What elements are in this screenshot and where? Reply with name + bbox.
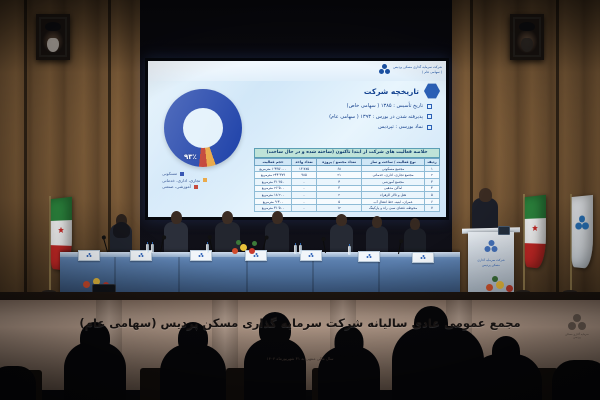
- table-row: ۶عمران، ابنیه، خط انتقال آب۵-۹٬۴۰۰ مترمر…: [255, 198, 440, 205]
- table-cell: ۹٬۴۰۰ مترمربع: [255, 198, 292, 205]
- portrait-beard: [521, 38, 532, 52]
- table-cell: ۳: [424, 179, 439, 186]
- framed-portrait-left: [36, 14, 70, 60]
- nameplate: [300, 250, 322, 261]
- table-column-header: تعداد واحد: [292, 158, 317, 165]
- wood-seam: [24, 0, 27, 330]
- audience-silhouette: [552, 360, 600, 400]
- table-cell: محوطه، فضای سبز، راه و پارکینگ: [362, 205, 425, 212]
- bullet-item: نماد بورسی : ثپردیس: [329, 124, 432, 130]
- legend-item: تجاری، اداری، خدماتی: [162, 178, 207, 183]
- banner-subline: سال مالی منتهی به ۳۱ شهریورماه ۱۴۰۴: [0, 356, 600, 361]
- audience-silhouette: [244, 338, 306, 400]
- trefoil-logo-icon: [367, 254, 372, 259]
- audience-head: [335, 326, 364, 357]
- legend-swatch: [203, 178, 207, 182]
- donut-center-label: ۹۳٪: [184, 153, 197, 161]
- donut-ring: [164, 89, 242, 167]
- trefoil-logo-icon: [575, 216, 589, 231]
- audience-silhouette: [64, 342, 126, 400]
- legend-item: مسکونی: [162, 171, 184, 176]
- iran-emblem-icon: [532, 225, 539, 232]
- slide-bullet-list: تاریخ تأسیس : ۱۳۸۵ ( سهامی خاص) پذیرفته …: [329, 103, 432, 130]
- table-cell: مجتمع مسکونی: [362, 165, 425, 172]
- bullet-text: پذیرفته شدن در بورس : ۱۳۹۳ ( سهامی عام): [329, 114, 423, 120]
- trefoil-logo-icon: [309, 253, 314, 258]
- panelist-head: [171, 211, 182, 224]
- audience-silhouette: [0, 366, 36, 400]
- trefoil-logo-icon: [485, 240, 498, 254]
- table-cell: ۷: [424, 205, 439, 212]
- framed-portrait-right: [510, 14, 544, 60]
- company-logo: شرکت سرمایه گذاری مسکن پردیس ( سهامی عام…: [379, 64, 442, 76]
- panelist-head: [336, 214, 347, 226]
- table-header-row: ردیفنوع فعالیت / ساخت و سازتعداد مجتمع /…: [255, 158, 440, 165]
- banner-logo-caption: سرمایه گذاری مسکن پردیس: [562, 333, 592, 339]
- table-cell: ۴۱٬۵۰۰ مترمربع: [255, 205, 292, 212]
- audience-silhouette: [318, 346, 380, 400]
- table-cell: ۶: [424, 198, 439, 205]
- donut-chart: ۹۳٪ مسکونی تجاری، اداری، خدماتی آموزشی، …: [156, 89, 252, 181]
- table-cell: ۶۸: [317, 165, 362, 172]
- water-bottle: [348, 246, 351, 255]
- table-cell: ۱۲: [317, 205, 362, 212]
- table-cell: ۱: [424, 165, 439, 172]
- table-cell: هتل و تالار الزهراء: [362, 192, 425, 199]
- slide-title: تاریخچه شرکت: [364, 87, 419, 96]
- banner-logo: سرمایه گذاری مسکن پردیس: [568, 314, 586, 342]
- table-cell: مجتمع تجاری، اداری، خدماتی: [362, 172, 425, 179]
- slide-title-row: تاریخچه شرکت: [364, 83, 440, 99]
- panelist-body: [265, 222, 289, 256]
- slide-header-bar: شرکت سرمایه گذاری مسکن پردیس ( سهامی عام…: [148, 61, 446, 81]
- activity-summary-table: خلاصه فعالیت های شرکت از ابتدا تاکنون (س…: [254, 148, 440, 212]
- table-cell: -: [292, 179, 317, 186]
- portrait-turban: [45, 22, 61, 32]
- bullet-text: نماد بورسی : ثپردیس: [378, 124, 423, 130]
- table-cell: ۹۸۵: [292, 172, 317, 179]
- hexagon-badge-icon: [424, 83, 440, 99]
- flower-arrangement: [228, 238, 262, 256]
- table-cell: ۲۱: [317, 172, 362, 179]
- bullet-text: تاریخ تأسیس : ۱۳۸۵ ( سهامی خاص): [347, 103, 423, 109]
- podium-laptop: [498, 226, 510, 235]
- water-bottle: [146, 244, 149, 253]
- table-cell: ۳۱٬۶۵۰ مترمربع: [255, 179, 292, 186]
- table-row: ۱مجتمع مسکونی۶۸۱۳٬۸۷۵۱٬۴۳۵٬۰۰۰ مترمربع: [255, 165, 440, 172]
- table-row: ۲مجتمع تجاری، اداری، خدماتی۲۱۹۸۵۲۴۴٬۳۷۹ …: [255, 172, 440, 179]
- banner-headline: مجمع عمومی عادی سالیانه شرکت سرمایه گذار…: [0, 316, 600, 330]
- trefoil-logo-icon: [139, 253, 144, 258]
- table-column-header: حجم فعالیت: [255, 158, 292, 165]
- wood-seam: [556, 0, 559, 330]
- table-column-header: ردیف: [424, 158, 439, 165]
- table-cell: ۵: [317, 198, 362, 205]
- legend-swatch: [194, 185, 198, 189]
- table-cell: مجتمع آموزشی: [362, 179, 425, 186]
- table-cell: ۱٬۴۳۵٬۰۰۰ مترمربع: [255, 165, 292, 172]
- legend-item: آموزشی، صنعتی: [162, 184, 198, 189]
- panelist-head: [222, 211, 233, 224]
- table-cell: اماکن مذهبی: [362, 185, 425, 192]
- bullet-square-icon: [427, 125, 432, 130]
- bullet-square-icon: [427, 114, 432, 119]
- trefoil-logo-icon: [379, 64, 390, 76]
- bullet-square-icon: [427, 104, 432, 109]
- nameplate: [412, 252, 434, 263]
- speaker-head: [479, 188, 492, 202]
- table-column-header: تعداد مجتمع / پروژه: [317, 158, 362, 165]
- table-cell: -: [292, 185, 317, 192]
- conference-hall-photo: شرکت سرمایه گذاری مسکن پردیس ( سهامی عام…: [0, 0, 600, 400]
- table-cell: -: [292, 205, 317, 212]
- legend-label: آموزشی، صنعتی: [162, 184, 191, 189]
- table-cell: ۳: [317, 185, 362, 192]
- panelist-body: [164, 222, 188, 256]
- water-bottle: [151, 244, 154, 253]
- table-cell: ۲۴۴٬۳۷۹ مترمربع: [255, 172, 292, 179]
- company-logo-text: شرکت سرمایه گذاری مسکن پردیس ( سهامی عام…: [393, 65, 442, 75]
- donut-legend: مسکونی تجاری، اداری، خدماتی آموزشی، صنعت…: [162, 171, 250, 189]
- table-cell: -: [292, 198, 317, 205]
- table-cell: ۱۳٬۸۷۵: [292, 165, 317, 172]
- bullet-item: پذیرفته شدن در بورس : ۱۳۹۳ ( سهامی عام): [329, 114, 432, 120]
- legend-label: تجاری، اداری، خدماتی: [162, 178, 200, 183]
- nameplate: [358, 251, 380, 262]
- panelist-head: [272, 211, 283, 224]
- panelist-head: [372, 216, 382, 228]
- flag-company: [572, 195, 593, 269]
- panelist-hijab: [113, 222, 130, 238]
- slide-table: ردیفنوع فعالیت / ساخت و سازتعداد مجتمع /…: [254, 158, 440, 212]
- podium-caption: شرکت سرمایه گذاری مسکن پردیس: [468, 258, 514, 268]
- nameplate: [78, 250, 100, 261]
- table-cell: ۴: [424, 185, 439, 192]
- flower-arrangement: [480, 274, 520, 294]
- trefoil-logo-icon: [421, 255, 426, 260]
- water-bottle: [206, 244, 209, 253]
- water-bottle: [299, 245, 302, 254]
- table-row: ۳مجتمع آموزشی۴-۳۱٬۶۵۰ مترمربع: [255, 179, 440, 186]
- portrait-beard: [47, 38, 58, 52]
- trefoil-logo-icon: [87, 253, 92, 258]
- table-cell: عمران، ابنیه، خط انتقال آب: [362, 198, 425, 205]
- flag-iran-right: [525, 195, 546, 270]
- table-cell: ۲: [424, 172, 439, 179]
- donut-hole: [183, 108, 223, 148]
- presentation-slide: شرکت سرمایه گذاری مسکن پردیس ( سهامی عام…: [148, 61, 446, 217]
- table-row: ۵هتل و تالار الزهراء۲-۱۸٬۲۰۰ مترمربع: [255, 192, 440, 199]
- legend-swatch: [180, 172, 184, 176]
- table-cell: -: [292, 192, 317, 199]
- iran-emblem-icon: [58, 227, 65, 234]
- table-cell: ۱۸٬۲۰۰ مترمربع: [255, 192, 292, 199]
- table-cell: ۵: [424, 192, 439, 199]
- portrait-turban: [519, 22, 535, 32]
- table-column-header: نوع فعالیت / ساخت و ساز: [362, 158, 425, 165]
- water-bottle: [294, 245, 297, 254]
- table-cell: ۲۶٬۵۰۰ مترمربع: [255, 185, 292, 192]
- table-caption: خلاصه فعالیت های شرکت از ابتدا تاکنون (س…: [254, 148, 440, 158]
- audience-silhouette: [160, 344, 226, 400]
- audience-head: [492, 336, 520, 366]
- table-cell: ۲: [317, 192, 362, 199]
- table-row: ۷محوطه، فضای سبز، راه و پارکینگ۱۲-۴۱٬۵۰۰…: [255, 205, 440, 212]
- bullet-item: تاریخ تأسیس : ۱۳۸۵ ( سهامی خاص): [329, 103, 432, 109]
- table-row: ۴اماکن مذهبی۳-۲۶٬۵۰۰ مترمربع: [255, 185, 440, 192]
- trefoil-logo-icon: [199, 253, 204, 258]
- panelist-head: [410, 218, 420, 230]
- projection-screen: شرکت سرمایه گذاری مسکن پردیس ( سهامی عام…: [145, 58, 449, 220]
- legend-label: مسکونی: [162, 171, 177, 176]
- table-cell: ۴: [317, 179, 362, 186]
